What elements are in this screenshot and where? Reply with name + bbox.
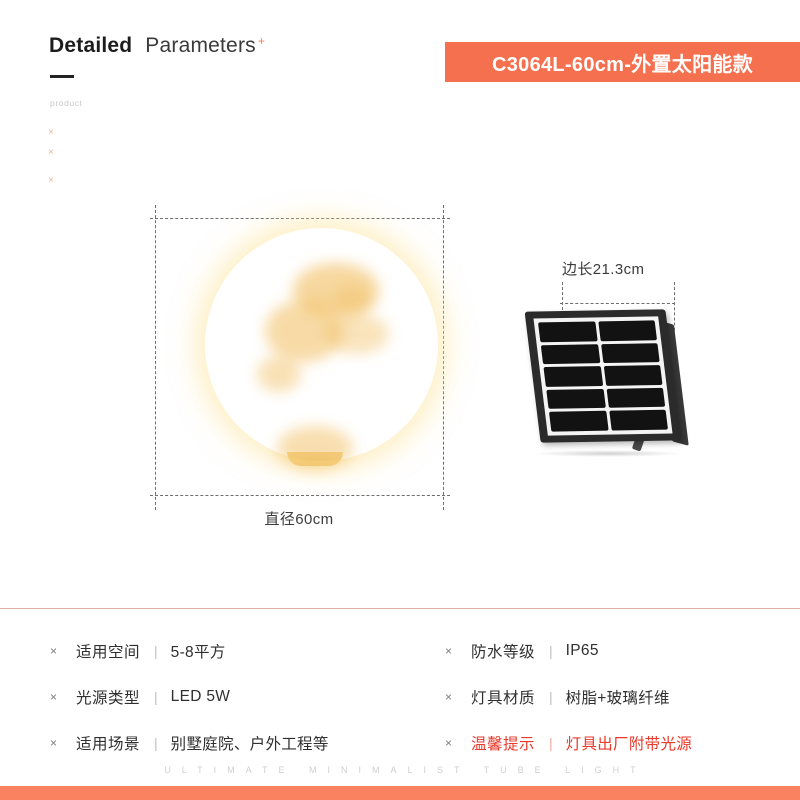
page-title: Detailed Parameters + — [49, 34, 265, 58]
spec-column-left: × 适用空间 | 5-8平方 × 光源类型 | LED 5W × 适用场景 | … — [50, 628, 329, 766]
section-divider — [0, 608, 800, 609]
spec-key: 防水等级 — [471, 640, 535, 662]
solar-panel-image — [525, 300, 705, 465]
solar-cell — [606, 388, 665, 408]
spec-value: 别墅庭院、户外工程等 — [171, 732, 329, 754]
solar-panel-backing — [533, 316, 672, 435]
spec-value: 灯具出厂附带光源 — [566, 732, 692, 754]
solar-cell — [543, 366, 602, 386]
table-row-warning: × 温馨提示 | 灯具出厂附带光源 — [445, 720, 692, 766]
decor-x-icon: × — [48, 128, 54, 138]
moon-lamp-sphere — [205, 228, 438, 461]
spec-key: 适用空间 — [76, 640, 140, 662]
solar-cell — [609, 410, 668, 430]
plus-icon: + — [258, 35, 265, 47]
spec-value: LED 5W — [171, 688, 231, 706]
spec-separator: | — [154, 643, 158, 659]
title-underline — [50, 75, 74, 78]
spec-key: 光源类型 — [76, 686, 140, 708]
decor-x-icon: × — [48, 176, 54, 186]
spec-key: 灯具材质 — [471, 686, 535, 708]
solar-cell — [546, 389, 605, 409]
solar-cell — [603, 365, 662, 385]
moon-texture-patch — [333, 286, 373, 316]
table-row: × 灯具材质 | 树脂+玻璃纤维 — [445, 674, 692, 720]
solar-panel-shadow — [533, 450, 683, 457]
footer-bar — [0, 786, 800, 800]
product-spec-sheet: Detailed Parameters + product × × × C306… — [0, 0, 800, 800]
footer-tagline: ULTIMATE MINIMALIST TUBE LIGHT — [0, 765, 800, 775]
spec-separator: | — [549, 689, 553, 705]
title-light: Parameters — [145, 34, 256, 58]
moon-lamp-image — [155, 210, 443, 495]
table-row: × 防水等级 | IP65 — [445, 628, 692, 674]
row-x-icon: × — [445, 644, 471, 658]
spec-separator: | — [154, 689, 158, 705]
spec-value: IP65 — [566, 642, 599, 660]
table-row: × 适用场景 | 别墅庭院、户外工程等 — [50, 720, 329, 766]
solar-cell — [541, 344, 600, 364]
solar-cell-grid — [538, 320, 668, 431]
panel-dimension-label: 边长21.3cm — [562, 258, 644, 279]
spec-value: 5-8平方 — [171, 640, 226, 662]
decor-x-icon: × — [48, 148, 54, 158]
row-x-icon: × — [445, 736, 471, 750]
spec-separator: | — [549, 735, 553, 751]
spec-value: 树脂+玻璃纤维 — [566, 686, 670, 708]
solar-cell — [549, 411, 608, 431]
spec-column-right: × 防水等级 | IP65 × 灯具材质 | 树脂+玻璃纤维 × 温馨提示 | … — [445, 628, 692, 766]
table-row: × 适用空间 | 5-8平方 — [50, 628, 329, 674]
solar-cell — [538, 321, 597, 341]
solar-panel-frame — [525, 309, 682, 442]
moon-texture-patch — [325, 314, 389, 354]
moon-guide-bottom — [150, 495, 450, 496]
moon-dimension-label: 直径60cm — [155, 508, 443, 529]
row-x-icon: × — [50, 736, 76, 750]
spec-separator: | — [154, 735, 158, 751]
title-strong: Detailed — [49, 34, 132, 58]
model-banner-label: C3064L-60cm-外置太阳能款 — [492, 48, 753, 77]
row-x-icon: × — [445, 690, 471, 704]
spec-key: 适用场景 — [76, 732, 140, 754]
solar-cell — [601, 343, 660, 363]
table-row: × 光源类型 | LED 5W — [50, 674, 329, 720]
row-x-icon: × — [50, 690, 76, 704]
moon-guide-right — [443, 205, 444, 510]
title-subtitle: product — [50, 98, 83, 108]
solar-cell — [598, 320, 657, 340]
model-banner: C3064L-60cm-外置太阳能款 — [445, 42, 800, 82]
moon-texture-patch — [257, 356, 301, 392]
spec-separator: | — [549, 643, 553, 659]
spec-key: 温馨提示 — [471, 732, 535, 754]
row-x-icon: × — [50, 644, 76, 658]
moon-texture-patch — [277, 426, 353, 470]
